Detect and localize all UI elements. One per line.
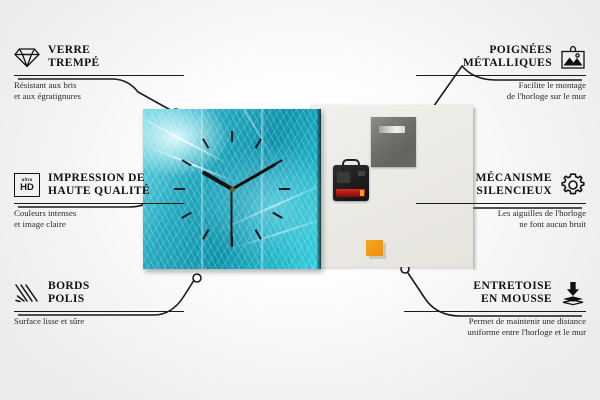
hour-hand — [202, 170, 233, 190]
glass-right-edge — [317, 109, 321, 269]
hour-tick — [255, 229, 262, 240]
hour-tick — [272, 212, 283, 219]
feature-desc-line: Surface lisse et sûre — [14, 316, 184, 327]
feature-impression-haute-qualite: ultra HD IMPRESSION DE HAUTE QUALITÉ Cou… — [14, 170, 184, 230]
feature-divider — [416, 75, 586, 76]
feature-header: ENTRETOISE EN MOUSSE — [404, 278, 586, 308]
feature-divider — [14, 75, 184, 76]
mechanism-panel-detail — [337, 172, 350, 183]
feature-desc-line: Permet de maintenir une distance — [404, 316, 586, 327]
polished-edges-icon — [14, 280, 40, 306]
feature-header: POIGNÉES MÉTALLIQUES — [416, 42, 586, 72]
hand-center-cap — [230, 187, 235, 192]
hour-tick — [181, 159, 192, 166]
feature-header: MÉCANISME SILENCIEUX — [416, 170, 586, 200]
feature-header: ultra HD IMPRESSION DE HAUTE QUALITÉ — [14, 170, 184, 200]
ultra-hd-icon: ultra HD — [14, 172, 40, 198]
feature-desc-line: de l'horloge sur le mur — [416, 91, 586, 102]
feature-verre-trempe: VERRE TREMPÉ Résistant aux bris et aux é… — [14, 42, 184, 102]
feature-desc-line: uniforme entre l'horloge et le mur — [404, 327, 586, 338]
feature-entretoise-en-mousse: ENTRETOISE EN MOUSSE Permet de maintenir… — [404, 278, 586, 338]
mechanism-hanging-loop — [342, 159, 360, 170]
feature-title: BORDS POLIS — [48, 280, 90, 306]
feature-mecanisme-silencieux: MÉCANISME SILENCIEUX Les aiguilles de l'… — [416, 170, 586, 230]
feature-desc-line: Facilite le montage — [416, 80, 586, 91]
feature-header: BORDS POLIS — [14, 278, 184, 308]
feature-divider — [404, 311, 586, 312]
mechanism-switch-detail — [358, 171, 365, 176]
aa-battery — [336, 189, 365, 197]
clock-mechanism-box — [333, 165, 369, 201]
feature-desc-line: Couleurs intenses — [14, 208, 184, 219]
feature-desc-line: et image claire — [14, 219, 184, 230]
hour-tick — [279, 188, 290, 190]
feature-divider — [14, 311, 184, 312]
feature-title: POIGNÉES MÉTALLIQUES — [463, 44, 552, 70]
hour-tick — [202, 229, 209, 240]
hour-tick — [255, 138, 262, 149]
diamond-icon — [14, 44, 40, 70]
hd-label: HD — [20, 183, 34, 193]
feature-title: VERRE TREMPÉ — [48, 44, 100, 70]
connector-dot-bords — [193, 274, 201, 282]
press-down-pad-icon — [560, 280, 586, 306]
hanger-slot — [379, 126, 405, 133]
feature-desc-line: ne font aucun bruit — [416, 219, 586, 230]
feature-title: ENTRETOISE EN MOUSSE — [473, 280, 552, 306]
foam-spacer — [366, 240, 383, 256]
feature-poignees-metalliques: POIGNÉES MÉTALLIQUES Facilite le montage… — [416, 42, 586, 102]
feature-desc-line: Résistant aux bris — [14, 80, 184, 91]
feature-title: IMPRESSION DE HAUTE QUALITÉ — [48, 172, 150, 198]
feature-header: VERRE TREMPÉ — [14, 42, 184, 72]
metal-hanger-bracket — [371, 117, 416, 167]
hour-tick — [231, 131, 233, 142]
feature-title: MÉCANISME SILENCIEUX — [476, 172, 552, 198]
feature-divider — [416, 203, 586, 204]
feature-desc-line: et aux égratignures — [14, 91, 184, 102]
infographic-canvas: VERRE TREMPÉ Résistant aux bris et aux é… — [0, 0, 600, 400]
minute-hand — [231, 163, 276, 191]
picture-frame-hook-icon — [560, 44, 586, 70]
gear-icon — [560, 172, 586, 198]
hour-tick — [202, 138, 209, 149]
feature-divider — [14, 203, 184, 204]
feature-bords-polis: BORDS POLIS Surface lisse et sûre — [14, 278, 184, 327]
feature-desc-line: Les aiguilles de l'horloge — [416, 208, 586, 219]
